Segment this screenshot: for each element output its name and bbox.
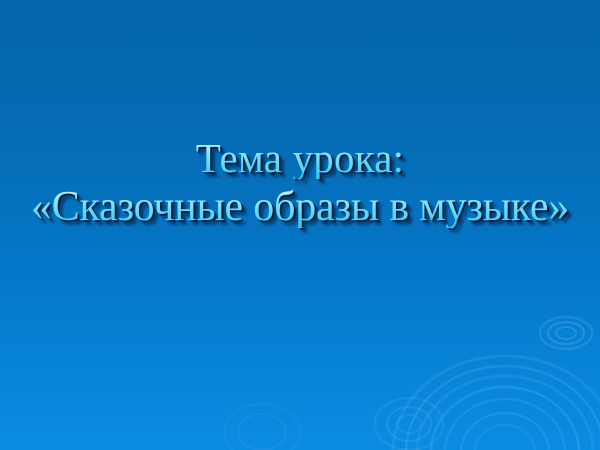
slide-title-line-2: «Сказочные образы в музыке»	[0, 186, 600, 228]
presentation-slide: Тема урока: «Сказочные образы в музыке»	[0, 0, 600, 450]
slide-title-line-1: Тема урока:	[0, 138, 600, 179]
slide-title-block: Тема урока: «Сказочные образы в музыке»	[0, 0, 600, 450]
